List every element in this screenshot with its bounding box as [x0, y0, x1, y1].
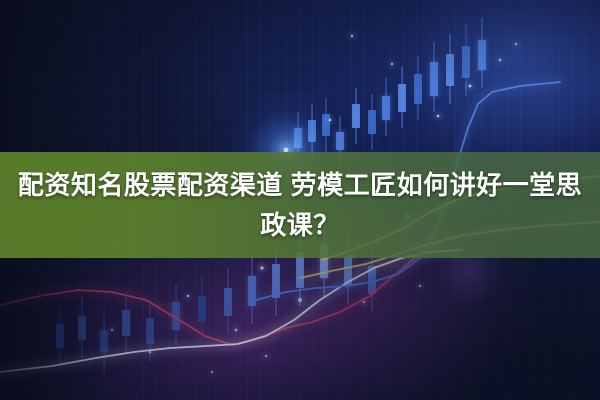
candlestick — [398, 66, 406, 128]
candlestick — [462, 24, 470, 96]
sparkle-halo — [209, 369, 215, 375]
candlestick — [172, 284, 180, 346]
candlestick — [430, 42, 438, 112]
sparkle-dot — [187, 295, 189, 297]
sparkle-dot — [419, 285, 421, 287]
sparkle-halo — [184, 292, 191, 299]
trend-line-glow — [0, 250, 462, 372]
sparkle-halo — [257, 263, 267, 273]
sparkle-dot — [149, 351, 151, 353]
sparkle-halo — [434, 112, 442, 120]
page-title: 配资知名股票配资渠道 劳模工匠如何讲好一堂思政课？ — [6, 165, 594, 245]
sparkle-dot — [363, 301, 365, 303]
candlestick — [414, 56, 422, 120]
candlestick — [368, 94, 376, 150]
candlestick — [78, 296, 86, 358]
candlestick — [352, 88, 360, 144]
sparkle-halo — [513, 41, 520, 48]
sparkle-dot — [298, 298, 302, 302]
sparkle-halo — [361, 299, 368, 306]
sparkle-halo — [348, 32, 355, 39]
sparkle-halo — [147, 349, 154, 356]
sparkle-dot — [265, 355, 267, 357]
candlestick — [224, 268, 232, 334]
candlestick — [198, 276, 206, 340]
candlestick — [56, 306, 64, 366]
sparkle-dot — [260, 266, 263, 269]
candlestick — [308, 104, 316, 158]
sparkle-dot — [499, 59, 501, 61]
candlestick — [322, 98, 330, 152]
candlestick — [122, 292, 130, 354]
candlestick — [146, 300, 154, 362]
title-band: 配资知名股票配资渠道 劳模工匠如何讲好一堂思政课？ — [0, 152, 600, 258]
sparkle-dot — [211, 371, 213, 373]
candlestick — [100, 310, 108, 372]
sparkle-halo — [416, 282, 423, 289]
banner-image: 配资知名股票配资渠道 劳模工匠如何讲好一堂思政课？ — [0, 0, 600, 400]
sparkle-halo — [263, 353, 270, 360]
candlestick — [478, 18, 486, 88]
sparkle-dot — [515, 43, 517, 45]
sparkle-dot — [329, 119, 332, 122]
sparkle-halo — [109, 327, 115, 333]
candlestick — [382, 78, 390, 136]
sparkle-dot — [235, 329, 238, 332]
sparkle-halo — [389, 61, 396, 68]
sparkle-dot — [391, 63, 393, 65]
trend-line — [0, 250, 462, 372]
sparkle-dot — [437, 115, 440, 118]
sparkle-halo — [232, 326, 240, 334]
sparkle-dot — [469, 85, 472, 88]
sparkle-halo — [466, 82, 474, 90]
sparkle-dot — [111, 329, 113, 331]
sparkle-halo — [294, 294, 306, 306]
sparkle-halo — [326, 116, 334, 124]
candlestick — [446, 34, 454, 104]
candlestick — [248, 256, 256, 324]
sparkle-halo — [496, 56, 503, 63]
sparkle-dot — [351, 35, 353, 37]
